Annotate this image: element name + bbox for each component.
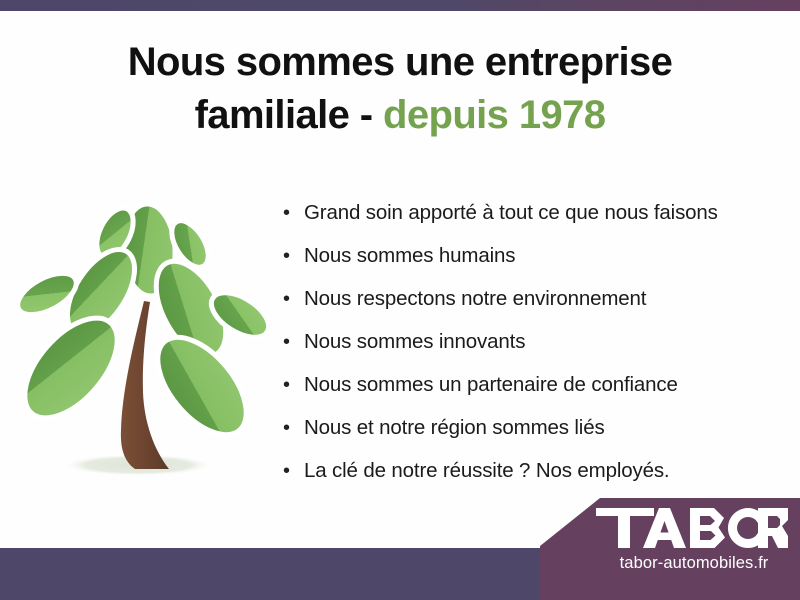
headline-line-1: Nous sommes une entreprise bbox=[128, 40, 673, 84]
bullet-marker-icon: • bbox=[283, 407, 304, 450]
list-item-label: Nous et notre région sommes liés bbox=[304, 406, 605, 449]
list-item-label: Nous sommes humains bbox=[304, 234, 515, 277]
logo-tagline: tabor-automobiles.fr bbox=[596, 554, 792, 573]
list-item: • Nous sommes innovants bbox=[283, 320, 783, 363]
tree-illustration bbox=[18, 182, 270, 482]
bullet-marker-icon: • bbox=[283, 450, 304, 493]
list-item-label: Nous sommes un partenaire de confiance bbox=[304, 363, 678, 406]
list-item-label: Nous respectons notre environnement bbox=[304, 277, 646, 320]
list-item: • La clé de notre réussite ? Nos employé… bbox=[283, 449, 783, 492]
top-accent-bar bbox=[0, 0, 800, 11]
tabor-wordmark-icon bbox=[596, 508, 788, 548]
slide-canvas: Nous sommes une entreprise familiale - d… bbox=[0, 0, 800, 600]
page-title: Nous sommes une entreprise familiale - d… bbox=[40, 36, 760, 142]
benefits-list: • Grand soin apporté à tout ce que nous … bbox=[283, 191, 783, 492]
bullet-marker-icon: • bbox=[283, 192, 304, 235]
bullet-marker-icon: • bbox=[283, 278, 304, 321]
bullet-marker-icon: • bbox=[283, 321, 304, 364]
list-item: • Nous sommes humains bbox=[283, 234, 783, 277]
bullet-marker-icon: • bbox=[283, 364, 304, 407]
headline-line-2-accent: depuis 1978 bbox=[383, 93, 605, 137]
list-item-label: Grand soin apporté à tout ce que nous fa… bbox=[304, 191, 718, 234]
brand-logo-block: tabor-automobiles.fr bbox=[540, 498, 800, 600]
list-item: • Nous respectons notre environnement bbox=[283, 277, 783, 320]
list-item-label: La clé de notre réussite ? Nos employés. bbox=[304, 449, 669, 492]
headline-line-2-plain: familiale - bbox=[195, 93, 383, 137]
list-item: • Nous et notre région sommes liés bbox=[283, 406, 783, 449]
list-item: • Grand soin apporté à tout ce que nous … bbox=[283, 191, 783, 234]
bullet-marker-icon: • bbox=[283, 235, 304, 278]
list-item: • Nous sommes un partenaire de confiance bbox=[283, 363, 783, 406]
list-item-label: Nous sommes innovants bbox=[304, 320, 525, 363]
tree-leaf bbox=[18, 302, 135, 435]
